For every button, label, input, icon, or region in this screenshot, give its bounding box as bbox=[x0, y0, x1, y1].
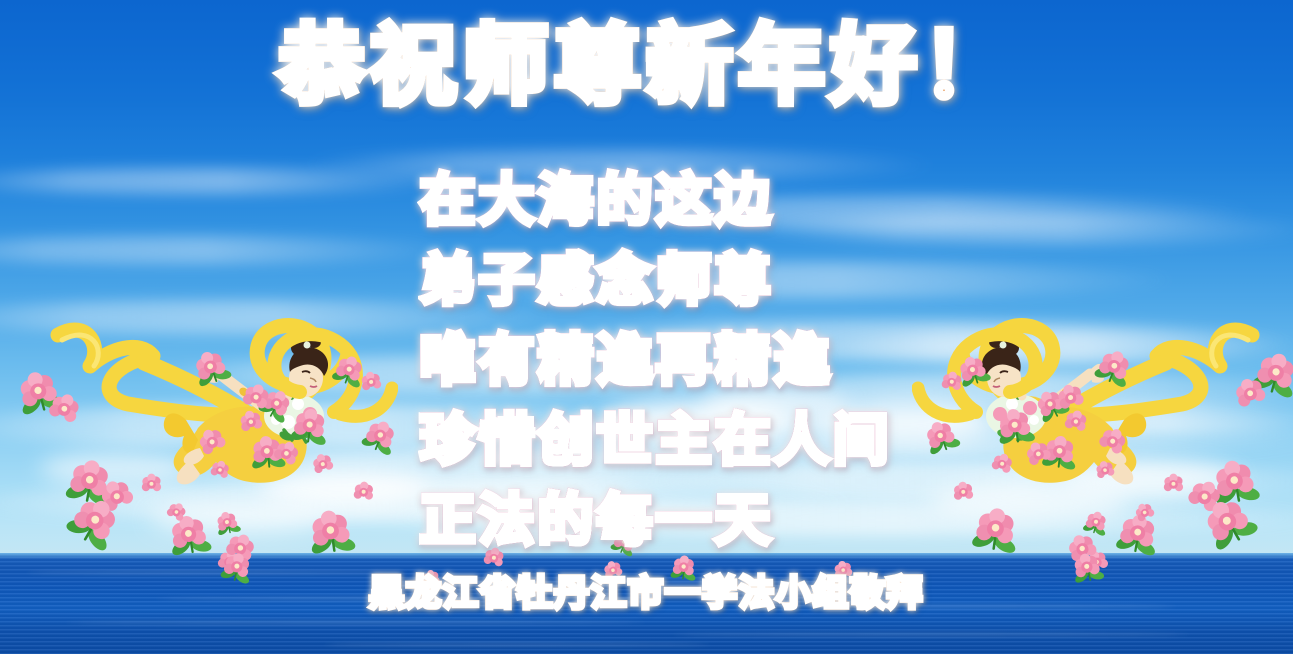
verse-line: 在大海的这边 bbox=[420, 160, 1020, 240]
verse-line: 唯有精進再精進 bbox=[420, 320, 1020, 400]
verse-line: 弟子感念师尊 bbox=[420, 240, 1020, 320]
verse-block: 在大海的这边 弟子感念师尊 唯有精進再精進 珍惜创世主在人间 正法的每一天 bbox=[420, 160, 1020, 560]
verse-line: 珍惜创世主在人间 bbox=[420, 400, 1020, 480]
signature-line: 黑龙江省牡丹江市一学法小组敬拜 bbox=[0, 572, 1293, 616]
greeting-card: 恭祝师尊新年好！ 在大海的这边 弟子感念师尊 唯有精進再精進 珍惜创世主在人间 … bbox=[0, 0, 1293, 654]
verse-line: 正法的每一天 bbox=[420, 480, 1020, 560]
page-title: 恭祝师尊新年好！ bbox=[0, 18, 1293, 114]
